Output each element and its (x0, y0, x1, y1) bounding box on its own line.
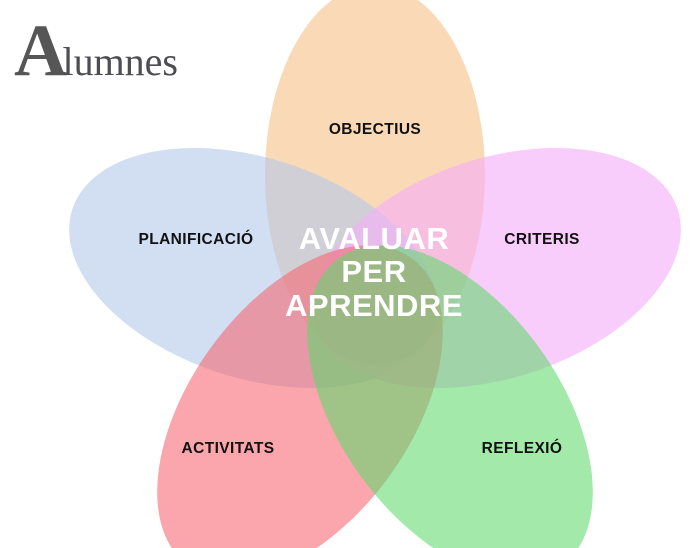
diagram-canvas: Alumnes OBJECTIUS PLANIFICACIÓ CRITERIS … (0, 0, 693, 548)
center-text-line1: AVALUAR (285, 222, 463, 255)
center-text-line2: PER (285, 255, 463, 288)
petal-label-objectius[interactable]: OBJECTIUS (329, 121, 421, 139)
petal-label-reflexio[interactable]: REFLEXIÓ (482, 440, 563, 458)
center-text-block: AVALUAR PER APRENDRE (285, 222, 463, 322)
petal-label-criteris[interactable]: CRITERIS (504, 231, 580, 249)
petal-label-activitats[interactable]: ACTIVITATS (182, 440, 275, 458)
page-title-initial: A (14, 10, 66, 92)
center-text-line3: APRENDRE (285, 289, 463, 322)
petal-label-planificacio[interactable]: PLANIFICACIÓ (138, 231, 253, 249)
page-title: Alumnes (14, 14, 178, 88)
page-title-rest: lumnes (62, 39, 178, 84)
